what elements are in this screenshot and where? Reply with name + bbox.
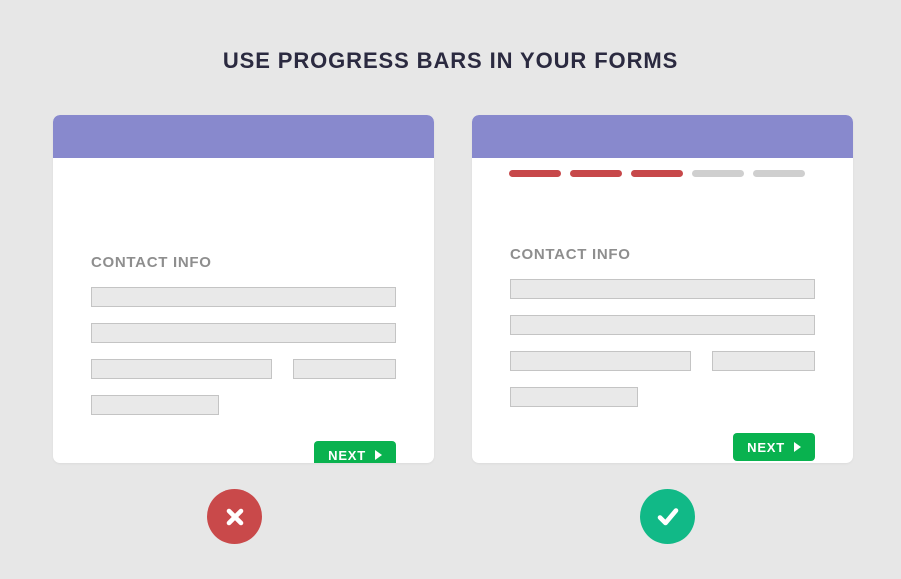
text-input-field[interactable] <box>510 279 815 299</box>
next-button[interactable]: NEXT <box>733 433 815 461</box>
form-fields <box>472 279 853 407</box>
text-input-field[interactable] <box>91 359 272 379</box>
progress-segment-2 <box>570 170 622 177</box>
field-row <box>510 387 815 407</box>
field-row <box>91 287 396 307</box>
card-header-banner <box>53 115 434 158</box>
error-badge <box>207 489 262 544</box>
text-input-field[interactable] <box>91 323 396 343</box>
next-button[interactable]: NEXT <box>314 441 396 463</box>
card-footer: NEXT <box>53 415 434 463</box>
play-arrow-icon <box>794 442 801 452</box>
text-input-field[interactable] <box>510 315 815 335</box>
field-row <box>510 351 815 371</box>
form-card-with-progress: CONTACT INFO NEXT <box>472 115 853 463</box>
progress-segment-5 <box>753 170 805 177</box>
text-input-field[interactable] <box>510 351 691 371</box>
progress-segment-1 <box>509 170 561 177</box>
x-mark-icon <box>222 504 248 530</box>
progress-segment-3 <box>631 170 683 177</box>
form-fields <box>53 287 434 415</box>
check-mark-icon <box>653 502 683 532</box>
text-input-field[interactable] <box>91 287 396 307</box>
form-card-without-progress: CONTACT INFO NEXT <box>53 115 434 463</box>
field-row <box>91 395 396 415</box>
text-input-field[interactable] <box>91 395 219 415</box>
section-label-contact-info: CONTACT INFO <box>472 177 853 263</box>
field-row <box>91 359 396 379</box>
next-button-label: NEXT <box>747 440 785 455</box>
field-row <box>510 315 815 335</box>
text-input-field[interactable] <box>293 359 396 379</box>
card-footer: NEXT <box>472 407 853 461</box>
section-label-contact-info: CONTACT INFO <box>53 158 434 271</box>
field-row <box>91 323 396 343</box>
next-button-label: NEXT <box>328 448 366 463</box>
progress-bar <box>472 158 853 177</box>
field-row <box>510 279 815 299</box>
success-badge <box>640 489 695 544</box>
text-input-field[interactable] <box>712 351 815 371</box>
page-title: USE PROGRESS BARS IN YOUR FORMS <box>0 48 901 74</box>
text-input-field[interactable] <box>510 387 638 407</box>
progress-segment-4 <box>692 170 744 177</box>
play-arrow-icon <box>375 450 382 460</box>
card-header-banner <box>472 115 853 158</box>
